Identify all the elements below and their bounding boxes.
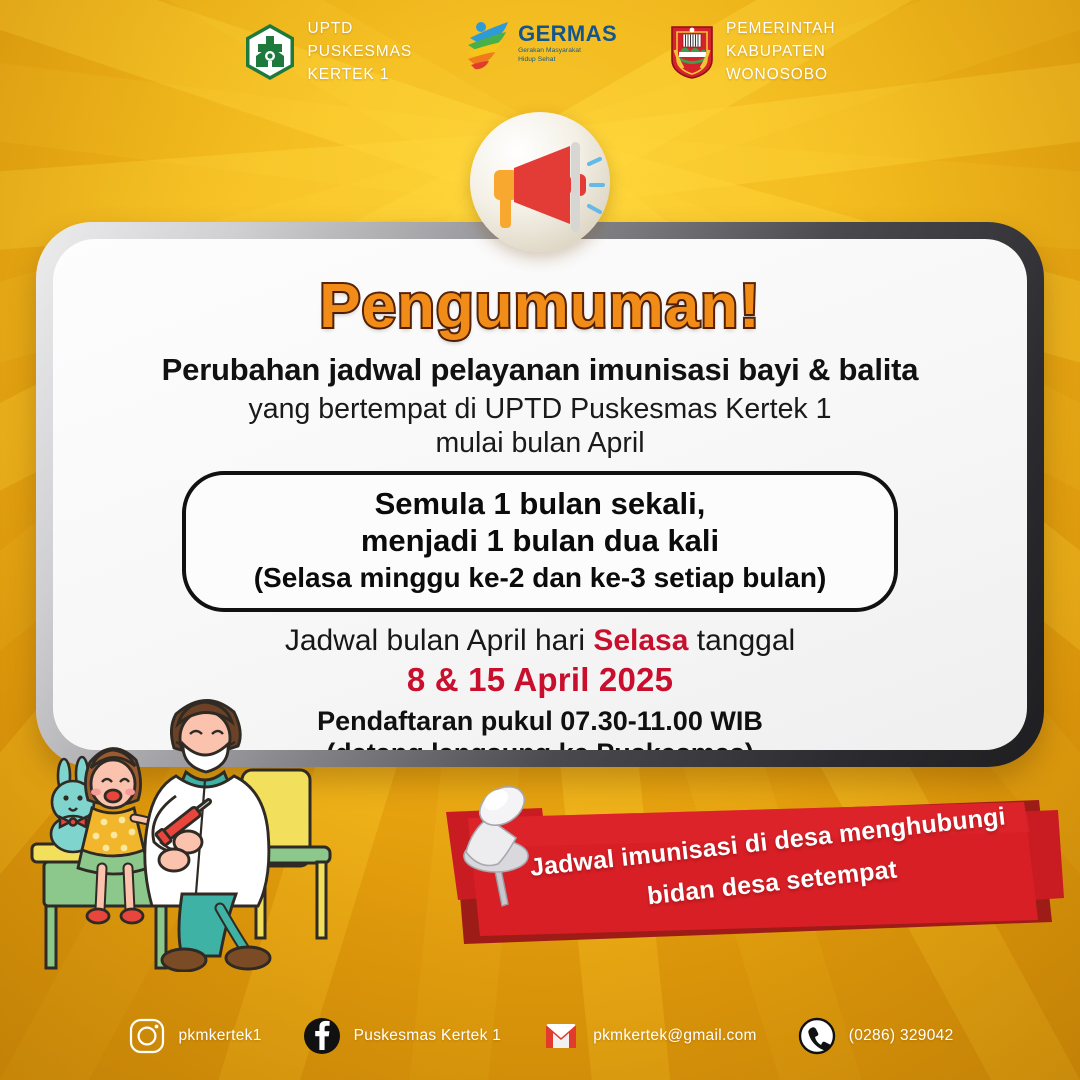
germas-tagline-line: Hidup Sehat (518, 56, 617, 65)
logo-line: UPTD (307, 18, 412, 41)
facebook-page-name: Puskesmas Kertek 1 (354, 1027, 502, 1045)
page-title: Pengumuman! (99, 275, 981, 338)
logo-germas: GERMAS Gerakan Masyarakat Hidup Sehat (464, 18, 617, 70)
contact-phone[interactable]: (0286) 329042 (797, 1016, 954, 1056)
schedule-suffix: tanggal (688, 624, 795, 657)
doctor-vaccinating-child-illustration (24, 672, 354, 972)
logo-puskesmas: UPTD PUSKESMAS KERTEK 1 (244, 18, 412, 87)
logo-puskesmas-label: UPTD PUSKESMAS KERTEK 1 (307, 18, 412, 87)
subtitle-start-month: mulai bulan April (99, 427, 981, 460)
schedule-dateline: Jadwal bulan April hari Selasa tanggal (99, 624, 981, 658)
logo-wonosobo: PEMERINTAH KABUPATEN WONOSOBO (669, 18, 835, 87)
instagram-icon (127, 1016, 167, 1056)
schedule-change-line3: (Selasa minggu ke-2 dan ke-3 setiap bula… (202, 561, 878, 595)
germas-tagline-line: Gerakan Masyarakat (518, 47, 617, 56)
phone-icon (797, 1016, 837, 1056)
logo-line: PUSKESMAS (307, 41, 412, 64)
megaphone-icon (470, 112, 610, 252)
village-schedule-ribbon: Jadwal imunisasi di desa menghubungi bid… (424, 772, 1064, 972)
email-address: pkmkertek@gmail.com (593, 1027, 757, 1045)
schedule-change-line2: menjadi 1 bulan dua kali (202, 523, 878, 560)
germas-logo (464, 18, 514, 70)
logo-line: WONOSOBO (726, 64, 835, 87)
germas-wordmark: GERMAS Gerakan Masyarakat Hidup Sehat (518, 23, 617, 64)
logo-line: PEMERINTAH (726, 18, 835, 41)
germas-tagline: Gerakan Masyarakat Hidup Sehat (518, 47, 617, 64)
instagram-handle: pkmkertek1 (179, 1027, 262, 1045)
poster-canvas: UPTD PUSKESMAS KERTEK 1 GERMAS Gerakan M… (0, 0, 1080, 1080)
contact-facebook[interactable]: Puskesmas Kertek 1 (302, 1016, 502, 1056)
megaphone-badge (470, 112, 610, 252)
facebook-icon (302, 1016, 342, 1056)
germas-title: GERMAS (518, 23, 617, 45)
contact-email[interactable]: pkmkertek@gmail.com (541, 1016, 757, 1056)
schedule-prefix: Jadwal bulan April hari (285, 624, 594, 657)
gmail-icon (541, 1016, 581, 1056)
schedule-change-box: Semula 1 bulan sekali, menjadi 1 bulan d… (182, 471, 898, 612)
logo-line: KERTEK 1 (307, 64, 412, 87)
schedule-day-highlight: Selasa (593, 624, 688, 657)
logo-wonosobo-label: PEMERINTAH KABUPATEN WONOSOBO (726, 18, 835, 87)
subtitle-location: yang bertempat di UPTD Puskesmas Kertek … (99, 393, 981, 426)
pushpin-icon (430, 772, 570, 912)
schedule-change-line1: Semula 1 bulan sekali, (202, 486, 878, 523)
logo-line: KABUPATEN (726, 41, 835, 64)
puskesmas-hexagon-logo (244, 23, 296, 81)
contact-instagram[interactable]: pkmkertek1 (127, 1016, 262, 1056)
footer-contacts: pkmkertek1 Puskesmas Kertek 1 pkmkertek@… (0, 1016, 1080, 1056)
header-logos: UPTD PUSKESMAS KERTEK 1 GERMAS Gerakan M… (0, 18, 1080, 87)
phone-number: (0286) 329042 (849, 1027, 954, 1045)
subtitle-primary: Perubahan jadwal pelayanan imunisasi bay… (99, 352, 981, 388)
wonosobo-emblem (669, 24, 715, 80)
